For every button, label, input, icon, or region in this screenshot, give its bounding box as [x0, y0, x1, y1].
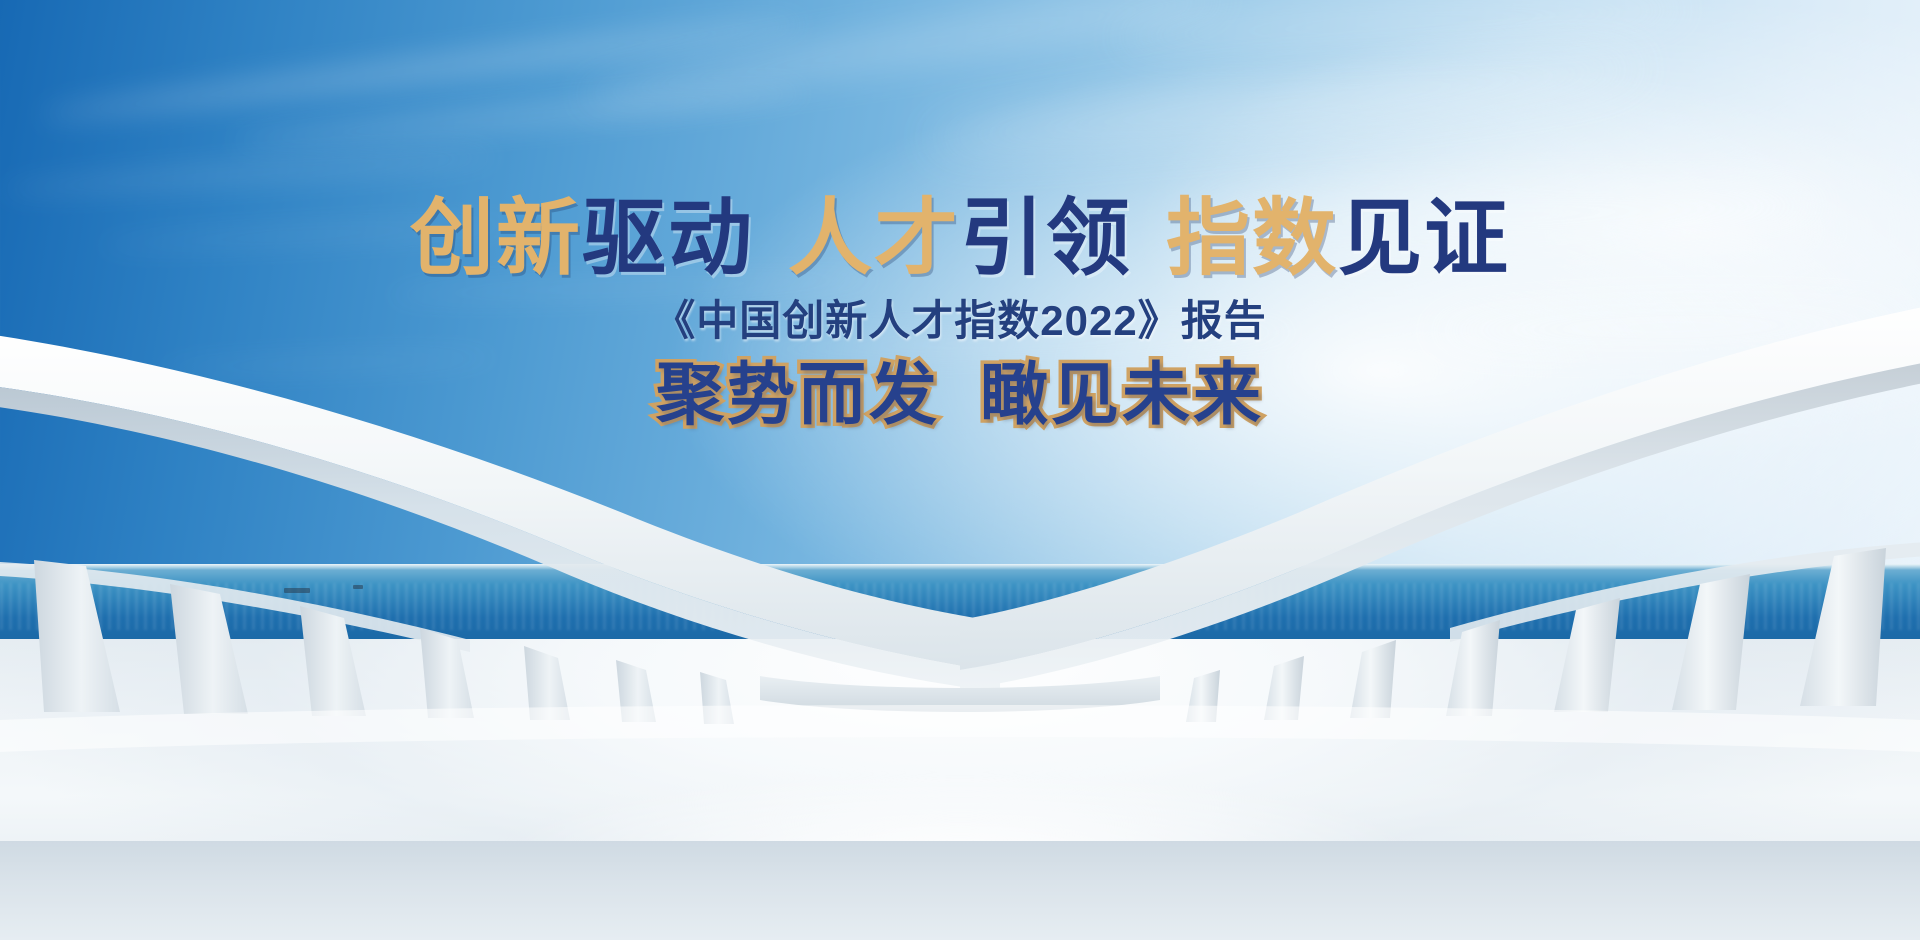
floor-foreground-band [0, 841, 1920, 940]
cloud-wisp-icon [922, 45, 1652, 161]
cloud-wisp-icon [578, 0, 1227, 113]
cloud-wisp-icon [1113, 0, 1690, 55]
headline-segment-5: 指数 [1166, 191, 1338, 285]
boat-icon [284, 588, 310, 593]
headline-segment-2: 驱动 [582, 191, 754, 285]
cloud-wisp-icon [40, 11, 805, 126]
tagline-left: 聚势而发 [656, 357, 940, 433]
headline-segment-3: 人才 [788, 191, 960, 285]
headline-segment-6: 见证 [1338, 191, 1510, 285]
horizon-line [0, 564, 1920, 570]
headline-segment-4: 引领 [960, 191, 1132, 285]
poster-subtitle: 《中国创新人才指数2022》报告 [0, 298, 1920, 344]
headline-segment-1: 创新 [410, 191, 582, 285]
boat-icon [353, 585, 363, 589]
poster-headline: 创新驱动人才引领指数见证 [0, 196, 1920, 280]
tagline-right: 瞰见未来 [980, 357, 1264, 433]
floor-highlight [422, 735, 1497, 855]
poster-tagline: 聚势而发瞰见未来 [0, 360, 1920, 431]
cloud-wisp-icon [231, 84, 806, 150]
poster-canvas: 创新驱动人才引领指数见证 《中国创新人才指数2022》报告 聚势而发瞰见未来 [0, 0, 1920, 940]
poster-text-block: 创新驱动人才引领指数见证 《中国创新人才指数2022》报告 聚势而发瞰见未来 [0, 196, 1920, 432]
